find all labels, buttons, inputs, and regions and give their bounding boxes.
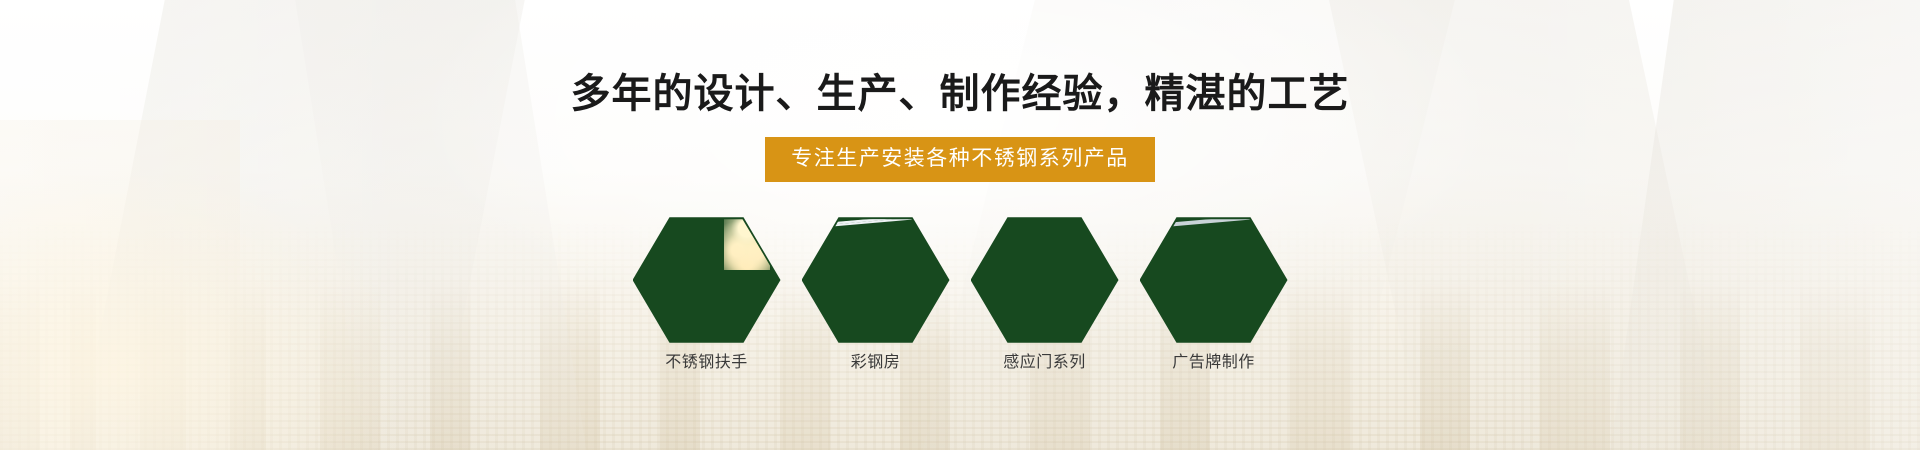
banner-headline: 多年的设计、生产、制作经验，精湛的工艺: [571, 74, 1350, 114]
hexagon-thumbnail[interactable]: [971, 216, 1119, 344]
product-card-label: 广告牌制作: [1172, 355, 1255, 371]
hexagon-image-clip: [804, 218, 948, 342]
hexagon-thumbnail[interactable]: [802, 216, 950, 344]
product-card-label: 彩钢房: [851, 355, 901, 371]
product-card[interactable]: 广告牌制作: [1140, 216, 1288, 371]
banner-subtitle-bar: 专注生产安装各种不锈钢系列产品: [765, 137, 1155, 182]
product-card-label: 不锈钢扶手: [665, 355, 748, 371]
hexagon-image-clip: [1142, 218, 1286, 342]
billboard-panels-shape: [1165, 218, 1280, 227]
promo-banner: 多年的设计、生产、制作经验，精湛的工艺 专注生产安装各种不锈钢系列产品 不锈钢扶…: [0, 0, 1920, 450]
banner-content: 多年的设计、生产、制作经验，精湛的工艺 专注生产安装各种不锈钢系列产品 不锈钢扶…: [0, 0, 1920, 450]
product-card-list: 不锈钢扶手: [633, 216, 1288, 371]
hexagon-thumbnail[interactable]: [633, 216, 781, 344]
hexagon-image-clip: [635, 218, 779, 342]
product-card[interactable]: 彩钢房: [802, 216, 950, 371]
product-card-label: 感应门系列: [1003, 355, 1086, 371]
hexagon-thumbnail[interactable]: [1140, 216, 1288, 344]
window-shape: [647, 218, 666, 220]
product-card[interactable]: 不锈钢扶手: [633, 216, 781, 371]
hexagon-image-clip: [973, 218, 1117, 342]
product-card[interactable]: 感应门系列: [971, 216, 1119, 371]
